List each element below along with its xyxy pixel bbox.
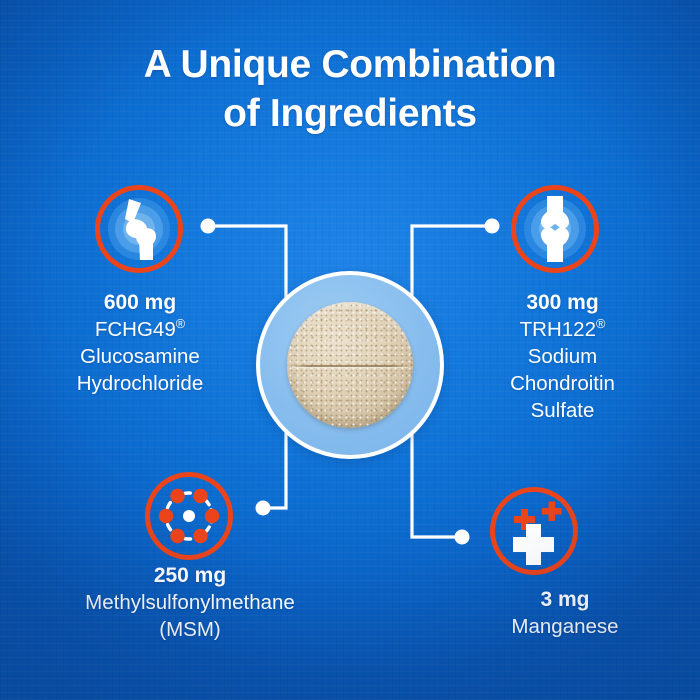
knee-joint-icon [100,190,178,268]
knee-joint-icon-ring [95,185,183,273]
connector-manganese [412,432,460,537]
msm-caption: 250 mg Methylsulfonylmethane (MSM) [20,562,360,643]
bone-joint-icon-ring [511,185,599,273]
tablet-image [287,302,413,428]
chondroitin-dose: 300 mg [425,289,700,316]
chondroitin-line-1: TRH122® [425,316,700,343]
manganese-line-1: Manganese [430,613,700,640]
molecule-icon-ring [145,472,233,560]
connector-msm [265,432,286,508]
chondroitin-line-4: Sulfate [425,397,700,424]
glucosamine-line-2: Glucosamine [0,343,280,370]
manganese-caption: 3 mg Manganese [430,586,700,640]
medical-cross-icon [495,492,573,570]
ingredients-infographic: A Unique Combination of Ingredients [0,0,700,700]
connector-dot-chondroitin [485,219,500,234]
manganese-dose: 3 mg [430,586,700,613]
chondroitin-caption: 300 mg TRH122® Sodium Chondroitin Sulfat… [425,289,700,424]
tablet-score-line [292,365,408,367]
bone-joint-icon [516,190,594,268]
chondroitin-line-2: Sodium [425,343,700,370]
glucosamine-line-3: Hydrochloride [0,370,280,397]
msm-line-1: Methylsulfonylmethane [20,589,360,616]
molecule-icon [150,477,228,555]
title-line-2: of Ingredients [0,89,700,138]
glucosamine-line-1: FCHG49® [0,316,280,343]
glucosamine-dose: 600 mg [0,289,280,316]
title-line-1: A Unique Combination [0,40,700,89]
medical-cross-icon-ring [490,487,578,575]
page-title: A Unique Combination of Ingredients [0,40,700,138]
connector-dot-manganese [455,530,470,545]
center-product-circle [256,271,444,459]
connector-dot-msm [256,501,271,516]
msm-line-2: (MSM) [20,616,360,643]
msm-dose: 250 mg [20,562,360,589]
glucosamine-caption: 600 mg FCHG49® Glucosamine Hydrochloride [0,289,280,397]
connector-dot-glucosamine [201,219,216,234]
chondroitin-line-3: Chondroitin [425,370,700,397]
